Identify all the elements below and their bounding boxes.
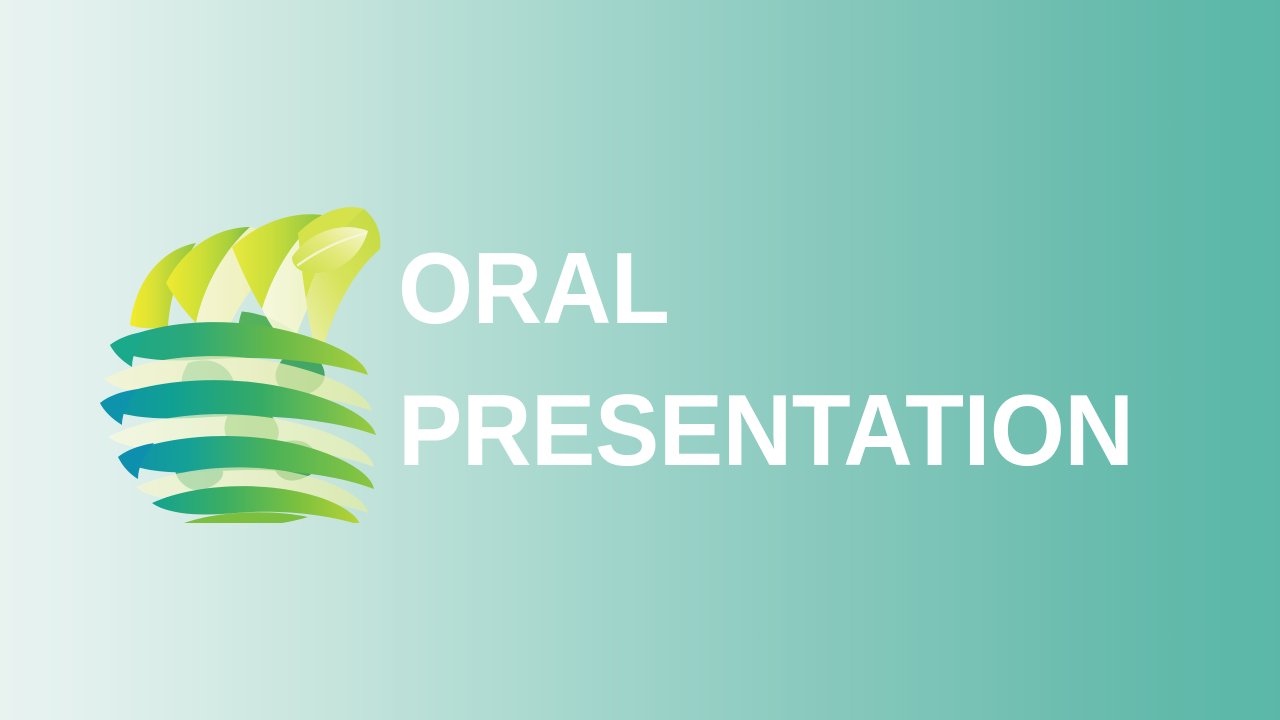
title-line-two: PRESENTATION [398,378,1200,484]
page-title: ORAL PRESENTATION [398,236,1238,484]
presentation-slide: ORAL PRESENTATION [0,0,1280,720]
title-line-one: ORAL [398,236,1200,342]
globe-ribbon-leaf-logo [92,203,384,523]
